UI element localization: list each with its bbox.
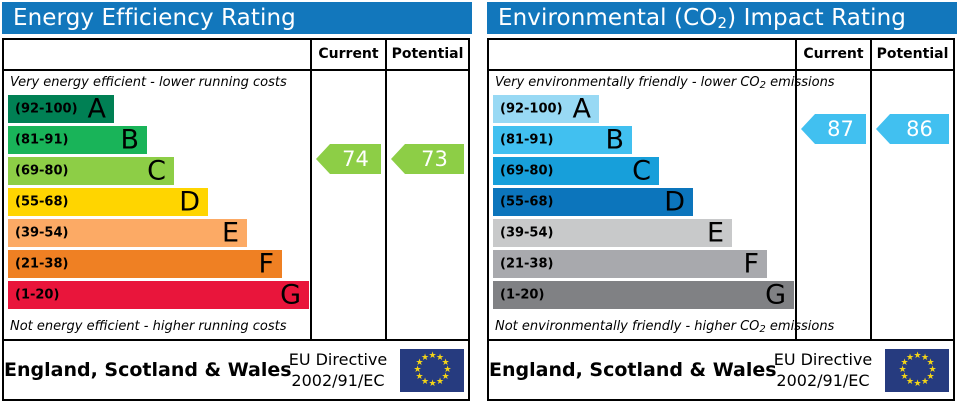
band-range-label: (21-38) xyxy=(500,257,553,272)
potential-rating-arrow: 86 xyxy=(876,114,949,144)
band-e: (39-54)E xyxy=(8,219,247,247)
co2-impact-rating-chart: Environmental (CO2) Impact Rating Curren… xyxy=(485,0,957,404)
band-range-label: (55-68) xyxy=(500,195,553,210)
chart-footer: England, Scotland & Wales EU Directive 2… xyxy=(4,341,468,399)
band-letter-label: E xyxy=(222,220,239,247)
band-range-label: (81-91) xyxy=(15,133,68,148)
current-rating-arrow: 74 xyxy=(316,144,381,174)
band-f: (21-38)F xyxy=(8,250,282,278)
column-divider-potential xyxy=(870,40,872,339)
eu-flag-star-icon: ★ xyxy=(914,353,921,360)
band-range-label: (81-91) xyxy=(500,133,553,148)
page-title: Energy Efficiency Rating xyxy=(13,5,296,31)
column-header-current: Current xyxy=(797,40,870,69)
band-b: (81-91)B xyxy=(493,126,632,154)
caption-top: Very energy efficient - lower running co… xyxy=(4,71,310,95)
region-label: England, Scotland & Wales xyxy=(4,341,280,399)
eu-flag-icon: ★★★★★★★★★★★★ xyxy=(400,349,464,392)
eu-flag-star-icon: ★ xyxy=(914,381,921,388)
band-letter-label: A xyxy=(88,96,106,123)
eu-flag-star-icon: ★ xyxy=(906,355,913,362)
band-range-label: (1-20) xyxy=(15,288,59,303)
eu-flag-star-icon: ★ xyxy=(436,379,443,386)
eu-flag-star-icon: ★ xyxy=(901,374,908,381)
band-letter-label: F xyxy=(258,251,274,278)
column-divider-current xyxy=(310,40,312,339)
rating-table: Current Potential Very environmentally f… xyxy=(487,38,955,401)
band-e: (39-54)E xyxy=(493,219,732,247)
band-letter-label: E xyxy=(707,220,724,247)
band-letter-label: D xyxy=(179,189,200,216)
eu-flag-star-icon: ★ xyxy=(416,374,423,381)
band-letter-label: D xyxy=(664,189,685,216)
band-range-label: (92-100) xyxy=(15,102,78,117)
rating-table: Current Potential Very energy efficient … xyxy=(2,38,470,401)
band-a: (92-100)A xyxy=(493,95,599,123)
eu-flag-star-icon: ★ xyxy=(421,355,428,362)
energy-efficiency-rating-chart: Energy Efficiency Rating Current Potenti… xyxy=(0,0,472,404)
band-range-label: (92-100) xyxy=(500,102,563,117)
column-header-potential: Potential xyxy=(872,40,953,69)
region-label: England, Scotland & Wales xyxy=(489,341,765,399)
potential-rating-arrow: 73 xyxy=(391,144,464,174)
eu-directive-line2: 2002/91/EC xyxy=(767,370,879,391)
eu-directive-line1: EU Directive xyxy=(282,349,394,370)
page-title: Environmental (CO2) Impact Rating xyxy=(498,5,906,31)
eu-flag-star-icon: ★ xyxy=(429,381,436,388)
epc-chart-page: Energy Efficiency Rating Current Potenti… xyxy=(0,0,957,404)
band-f: (21-38)F xyxy=(493,250,767,278)
eu-flag-star-icon: ★ xyxy=(429,353,436,360)
eu-directive-label: EU Directive 2002/91/EC xyxy=(767,349,879,391)
eu-directive-line2: 2002/91/EC xyxy=(282,370,394,391)
eu-flag-icon: ★★★★★★★★★★★★ xyxy=(885,349,949,392)
current-rating-arrow: 87 xyxy=(801,114,866,144)
band-range-label: (55-68) xyxy=(15,195,68,210)
band-range-label: (1-20) xyxy=(500,288,544,303)
chart-title-bar: Energy Efficiency Rating xyxy=(2,2,472,34)
column-header-potential: Potential xyxy=(387,40,468,69)
band-letter-label: B xyxy=(605,127,624,154)
eu-directive-line1: EU Directive xyxy=(767,349,879,370)
band-b: (81-91)B xyxy=(8,126,147,154)
band-range-label: (69-80) xyxy=(500,164,553,179)
band-letter-label: C xyxy=(147,158,166,185)
eu-directive-label: EU Directive 2002/91/EC xyxy=(282,349,394,391)
band-list: (92-100)A(81-91)B(69-80)C(55-68)D(39-54)… xyxy=(4,95,310,315)
band-letter-label: C xyxy=(632,158,651,185)
eu-flag-star-icon: ★ xyxy=(414,367,421,374)
band-letter-label: F xyxy=(743,251,759,278)
caption-bottom: Not energy efficient - higher running co… xyxy=(4,315,310,339)
column-header-current: Current xyxy=(312,40,385,69)
column-divider-potential xyxy=(385,40,387,339)
band-range-label: (39-54) xyxy=(15,226,68,241)
band-list: (92-100)A(81-91)B(69-80)C(55-68)D(39-54)… xyxy=(489,95,795,315)
band-d: (55-68)D xyxy=(8,188,208,216)
band-c: (69-80)C xyxy=(8,157,174,185)
band-letter-label: A xyxy=(573,96,591,123)
band-range-label: (21-38) xyxy=(15,257,68,272)
band-a: (92-100)A xyxy=(8,95,114,123)
band-letter-label: G xyxy=(280,282,301,309)
caption-top: Very environmentally friendly - lower CO… xyxy=(489,71,795,95)
band-g: (1-20)G xyxy=(8,281,309,309)
band-c: (69-80)C xyxy=(493,157,659,185)
eu-flag-star-icon: ★ xyxy=(899,367,906,374)
chart-footer: England, Scotland & Wales EU Directive 2… xyxy=(489,341,953,399)
eu-flag-star-icon: ★ xyxy=(921,379,928,386)
band-letter-label: B xyxy=(120,127,139,154)
band-d: (55-68)D xyxy=(493,188,693,216)
chart-title-bar: Environmental (CO2) Impact Rating xyxy=(487,2,957,34)
band-g: (1-20)G xyxy=(493,281,794,309)
band-range-label: (69-80) xyxy=(15,164,68,179)
band-range-label: (39-54) xyxy=(500,226,553,241)
caption-bottom: Not environmentally friendly - higher CO… xyxy=(489,315,795,339)
band-letter-label: G xyxy=(765,282,786,309)
